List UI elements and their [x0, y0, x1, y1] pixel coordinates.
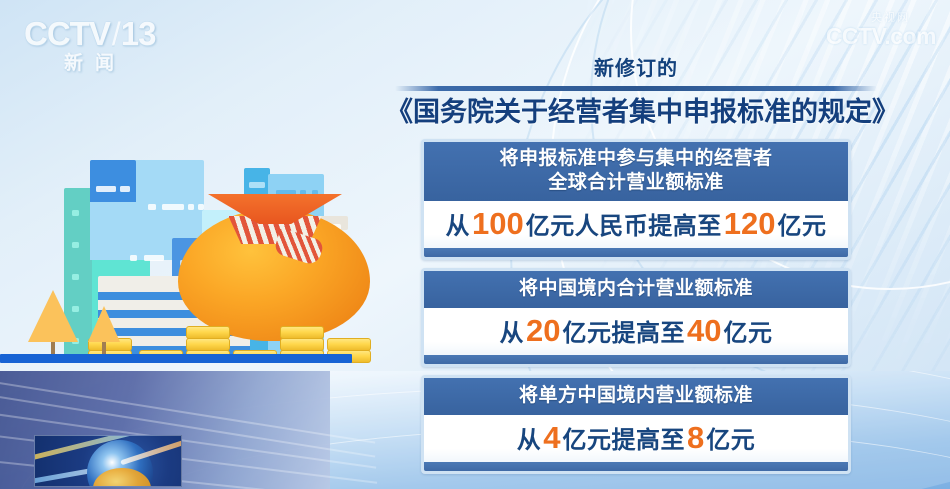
logo-channel-number: 13: [121, 16, 156, 52]
cctv-com-watermark: 央视网 CCTV.com: [826, 12, 936, 48]
tree-large: [28, 290, 78, 354]
logo-slash-icon: /: [112, 16, 120, 52]
info-card-header-line: 将申报标准中参与集中的经营者: [432, 147, 840, 171]
news-graphic-stage: CCTV / 13 新闻 央视网 CCTV.com: [0, 0, 950, 489]
building-blue-top-block: [90, 160, 136, 202]
logo-cctv-text: CCTV: [24, 16, 110, 52]
body-text: 从: [517, 427, 542, 454]
title-divider: [395, 86, 877, 91]
globe-icon: [87, 440, 153, 487]
info-card-header: 将单方中国境内营业额标准: [424, 378, 848, 415]
info-card-header-line: 将单方中国境内营业额标准: [432, 384, 840, 408]
info-card-body: 从4亿元提高至8亿元: [424, 415, 848, 462]
body-text: 从: [446, 213, 471, 240]
body-text: 亿元提高至: [563, 320, 686, 347]
highlight-number: 20: [524, 313, 562, 348]
info-card-header-line: 将中国境内合计营业额标准: [432, 277, 840, 301]
info-card-header: 将中国境内合计营业额标准: [424, 271, 848, 308]
info-card-body: 从100亿元人民币提高至120亿元: [424, 201, 848, 248]
info-card: 将中国境内合计营业额标准从20亿元提高至40亿元: [421, 268, 851, 367]
info-card-header-line: 全球合计营业额标准: [432, 171, 840, 195]
info-card: 将申报标准中参与集中的经营者全球合计营业额标准从100亿元人民币提高至120亿元: [421, 139, 851, 260]
news-globe-thumbnail: [34, 435, 182, 487]
logo-top-row: CCTV / 13: [24, 16, 156, 52]
info-card-footer: [424, 248, 848, 257]
info-card-header: 将申报标准中参与集中的经营者全球合计营业额标准: [424, 142, 848, 201]
body-text: 亿元: [706, 427, 755, 454]
highlight-number: 4: [541, 420, 562, 455]
info-card-body: 从20亿元提高至40亿元: [424, 308, 848, 355]
tree-small: [88, 306, 120, 354]
kicker-text: 新修订的: [386, 56, 886, 82]
watermark-english: CCTV.com: [826, 24, 936, 48]
highlight-number: 40: [685, 313, 723, 348]
body-text: 亿元提高至: [563, 427, 686, 454]
body-text: 亿元人民币提高至: [526, 213, 722, 240]
document-title: 《国务院关于经营者集中申报标准的规定》: [386, 94, 886, 130]
highlight-number: 100: [470, 206, 526, 241]
body-text: 从: [500, 320, 525, 347]
content-panel: 新修订的 《国务院关于经营者集中申报标准的规定》 将申报标准中参与集中的经营者全…: [386, 56, 886, 482]
info-card-footer: [424, 462, 848, 471]
city-illustration: [0, 60, 400, 420]
highlight-number: 120: [722, 206, 778, 241]
highlight-number: 8: [685, 420, 706, 455]
info-card-list: 将申报标准中参与集中的经营者全球合计营业额标准从100亿元人民币提高至120亿元…: [386, 139, 886, 474]
body-text: 亿元: [777, 213, 826, 240]
body-text: 亿元: [723, 320, 772, 347]
info-card: 将单方中国境内营业额标准从4亿元提高至8亿元: [421, 375, 851, 474]
ground-line: [0, 354, 352, 363]
info-card-footer: [424, 355, 848, 364]
